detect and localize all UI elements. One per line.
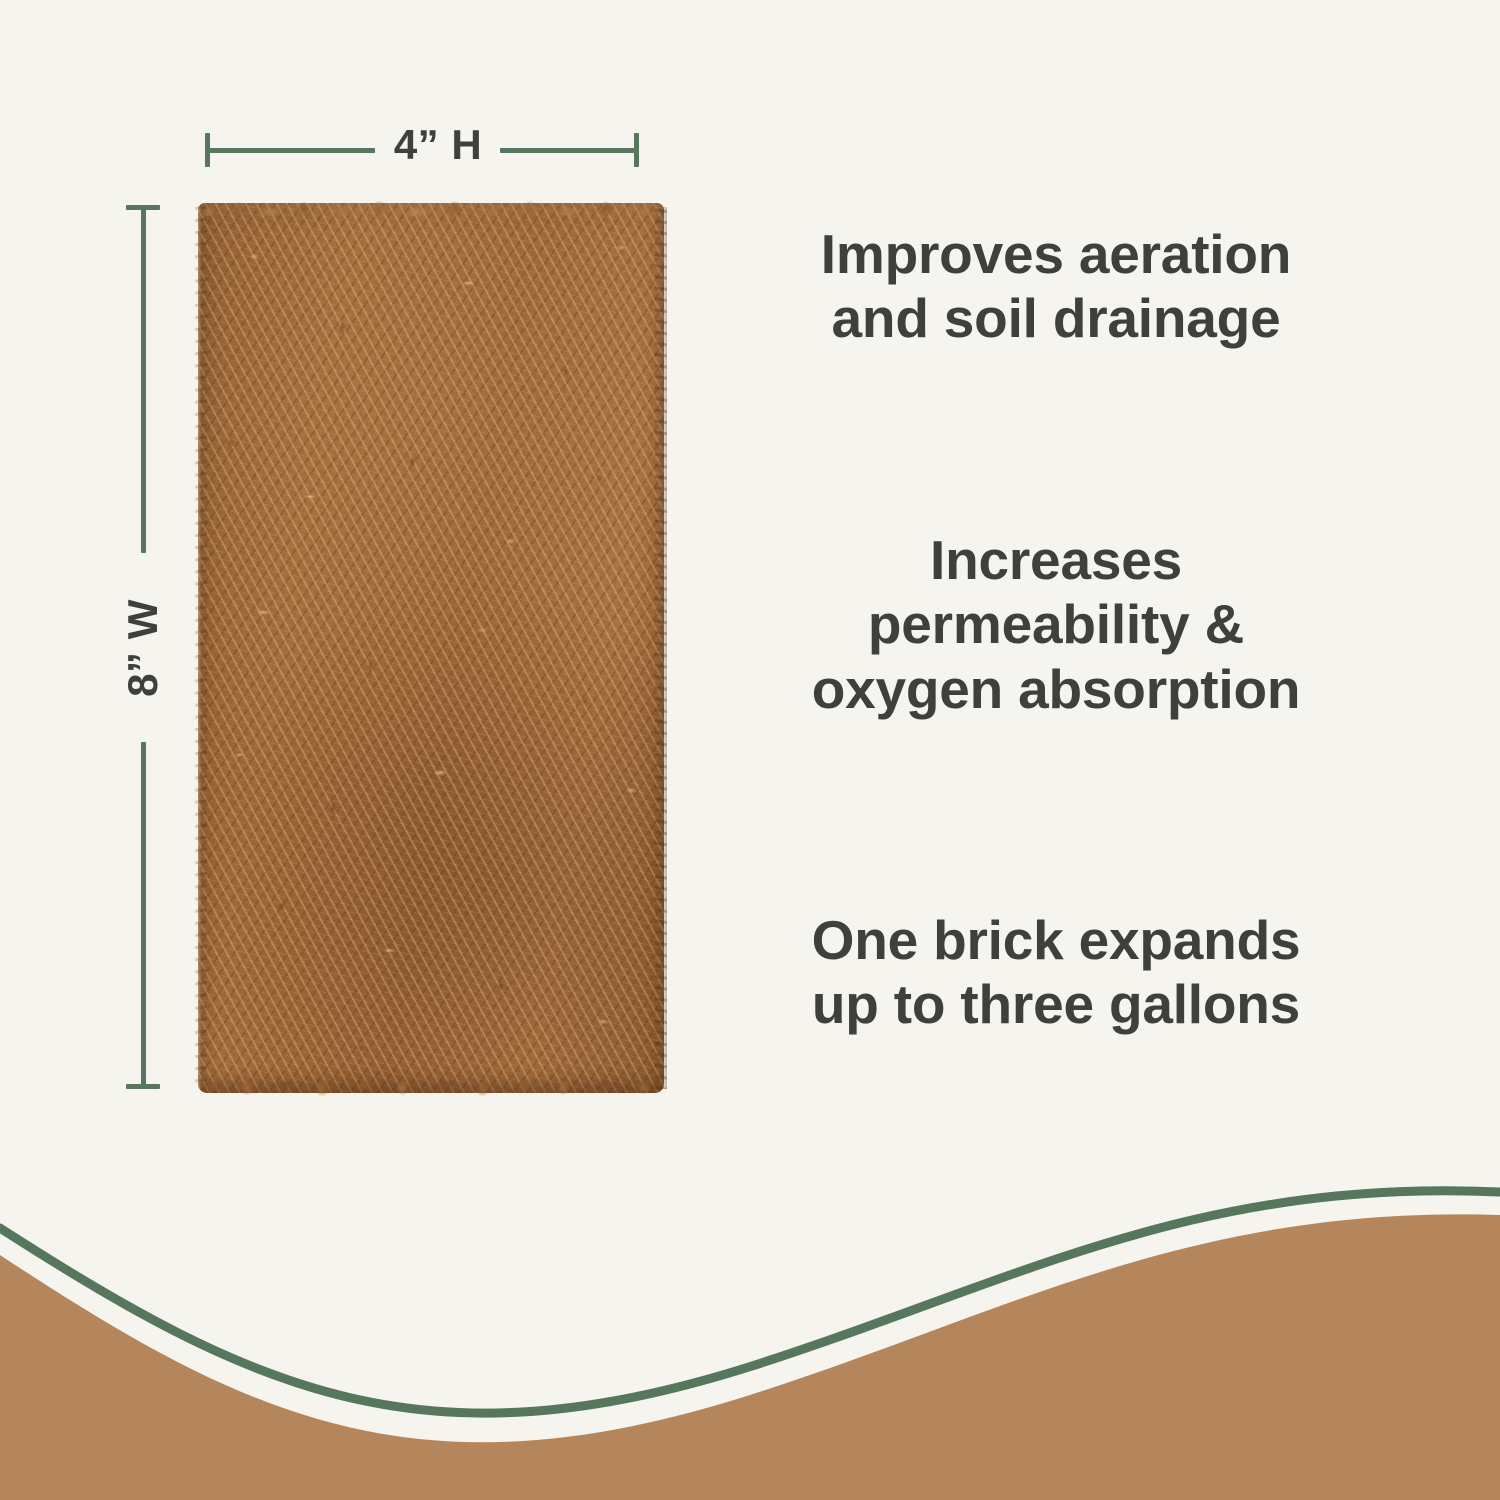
benefit-line: and soil drainage (726, 286, 1386, 350)
width-guide-right-line (500, 148, 638, 153)
bottom-wave-decoration (0, 1170, 1500, 1500)
benefit-line: One brick expands (726, 908, 1386, 972)
infographic-canvas: 4” H 8” W Improves aeration and soil dra… (0, 0, 1500, 1500)
benefit-text-expansion: One brick expands up to three gallons (726, 908, 1386, 1037)
benefit-line: up to three gallons (726, 972, 1386, 1036)
height-guide-bottom-cap (126, 1084, 160, 1089)
width-guide-left-line (205, 148, 375, 153)
coco-coir-brick-image (198, 203, 664, 1093)
width-guide-right-cap (634, 133, 639, 167)
benefit-line: oxygen absorption (726, 657, 1386, 721)
height-dimension-label: 8” W (119, 599, 167, 697)
width-dimension-label: 4” H (373, 121, 503, 169)
brick-left-edge (195, 207, 207, 1089)
brick-top-edge (195, 199, 667, 216)
benefit-text-aeration: Improves aeration and soil drainage (726, 222, 1386, 351)
benefit-line: Increases (726, 528, 1386, 592)
benefit-text-permeability: Increases permeability & oxygen absorpti… (726, 528, 1386, 721)
brick-surface-texture (198, 203, 664, 1093)
brick-bottom-edge (195, 1081, 667, 1098)
benefit-line: permeability & (726, 592, 1386, 656)
benefit-line: Improves aeration (726, 222, 1386, 286)
height-guide-top-line (141, 205, 146, 553)
height-guide-bottom-line (141, 742, 146, 1089)
brick-right-edge (655, 207, 667, 1089)
